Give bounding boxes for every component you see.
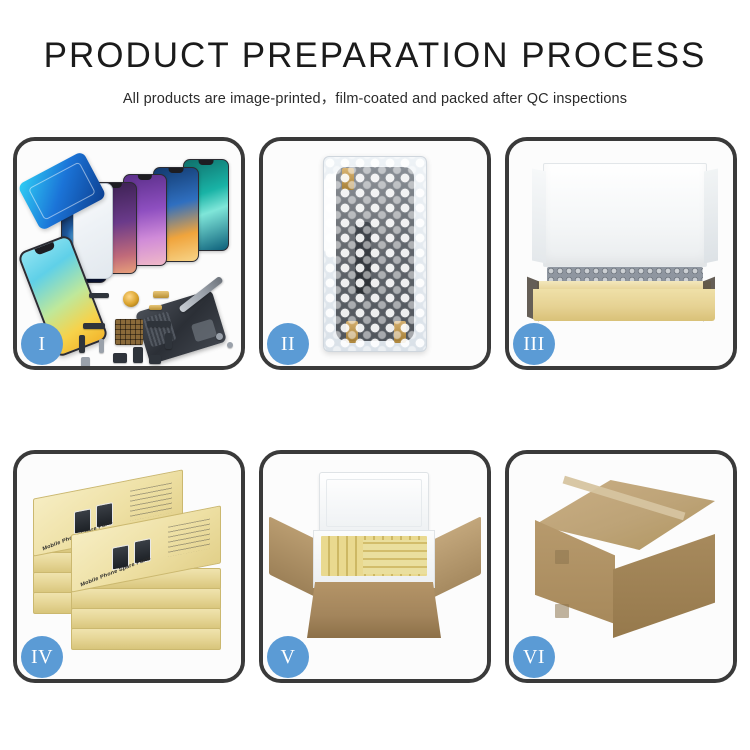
step-panel-iii: III — [505, 137, 737, 370]
step-panel-iv: Mobile Phone Spare Parts Mobile Phone Sp… — [13, 450, 245, 683]
part-flex-5 — [165, 333, 172, 349]
speaker-module-icon — [123, 291, 139, 307]
header: PRODUCT PREPARATION PROCESS All products… — [0, 0, 750, 108]
part-camera-1 — [81, 357, 90, 366]
foam-box-lid-icon — [319, 472, 429, 534]
step-badge-vi: VI — [513, 636, 555, 678]
part-module-3 — [149, 355, 161, 364]
bubble-texture-layer-2 — [324, 157, 426, 351]
part-bracket-1 — [99, 339, 104, 353]
stacked-box-6 — [71, 588, 221, 610]
step-panel-ii: II — [259, 137, 491, 370]
part-flex-4 — [147, 321, 171, 327]
part-screw-1 — [216, 333, 223, 340]
foam-sheet-icon — [543, 163, 707, 267]
stacked-box-8 — [71, 628, 221, 650]
product-preparation-infographic: PRODUCT PREPARATION PROCESS All products… — [0, 0, 750, 750]
part-module-2 — [133, 347, 143, 363]
part-gold-1 — [153, 291, 169, 298]
step-panel-v: V — [259, 450, 491, 683]
part-flex-3 — [79, 335, 85, 353]
step-badge-v: V — [267, 636, 309, 678]
carton-flap-right — [433, 516, 481, 597]
part-gold-2 — [149, 305, 162, 310]
step-badge-ii: II — [267, 323, 309, 365]
inner-box-front — [533, 289, 715, 321]
step-badge-iv: IV — [21, 636, 63, 678]
step-badge-i: I — [21, 323, 63, 365]
part-screw-2 — [227, 342, 233, 348]
step-panel-i: I — [13, 137, 245, 370]
step-badge-iii: III — [513, 323, 555, 365]
carton-seam-mark-2 — [555, 604, 569, 618]
part-flex-1 — [89, 293, 109, 298]
part-module-1 — [113, 353, 127, 363]
carton-right-face — [613, 534, 715, 638]
box-stack-graphic: Mobile Phone Spare Parts Mobile Phone Sp… — [29, 480, 229, 656]
process-steps-grid: I II — [13, 137, 737, 683]
page-title: PRODUCT PREPARATION PROCESS — [0, 36, 750, 76]
stacked-box-7 — [71, 608, 221, 630]
part-flex-2 — [83, 323, 105, 329]
page-subtitle: All products are image-printed，film-coat… — [0, 87, 750, 108]
carton-front-panel — [307, 582, 441, 638]
box-art-text-lines-2 — [168, 519, 210, 557]
carton-seam-mark-1 — [555, 550, 569, 564]
carton-flap-left — [269, 516, 317, 597]
packed-boxes-row-2 — [363, 540, 427, 574]
chip-grid-icon — [115, 319, 143, 345]
bubble-wrapped-part-icon — [323, 156, 427, 352]
step-panel-vi: VI — [505, 450, 737, 683]
